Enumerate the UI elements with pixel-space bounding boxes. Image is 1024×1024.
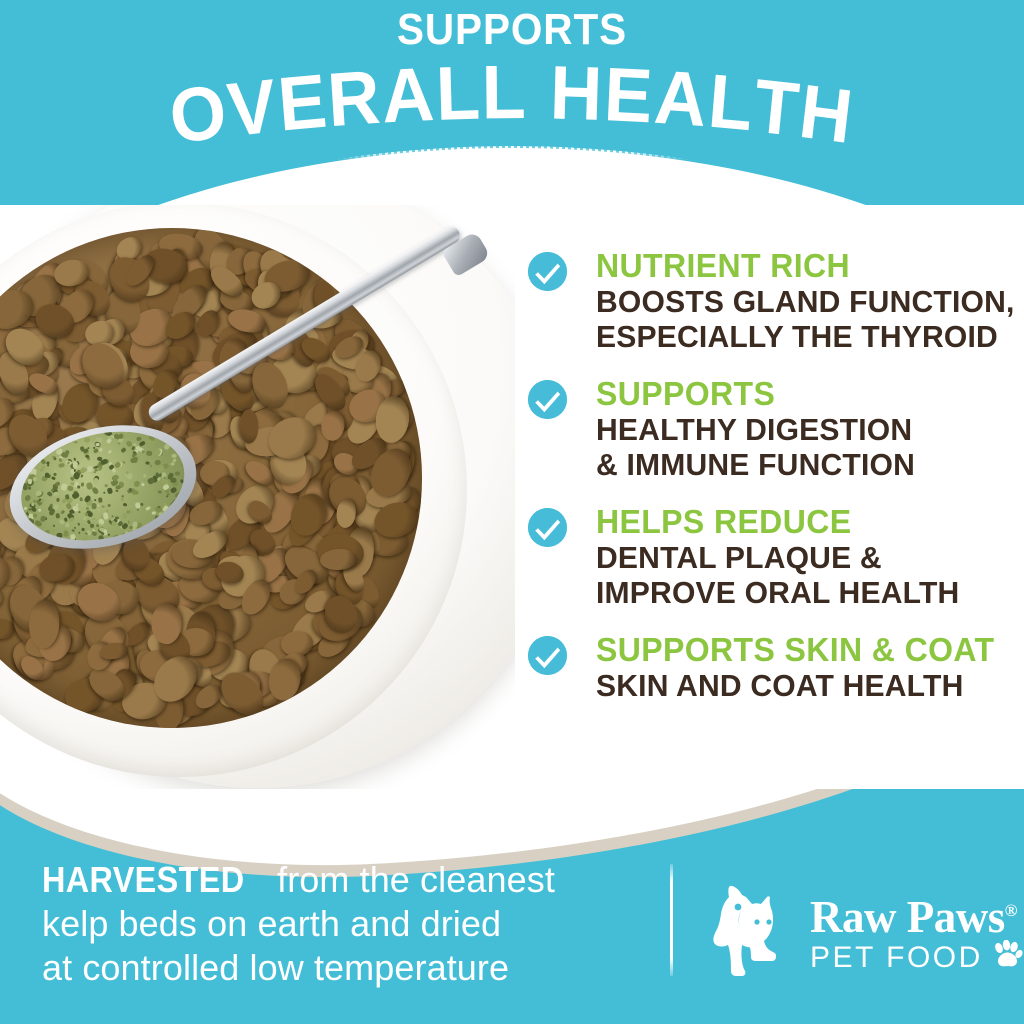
kelp-fleck	[190, 513, 195, 517]
kelp-fleck	[81, 474, 84, 477]
benefit-title: SUPPORTS	[596, 376, 1011, 412]
kelp-fleck	[183, 507, 187, 511]
footer-tagline: HARVESTED from the cleanest kelp beds on…	[42, 858, 555, 990]
kelp-fleck	[76, 503, 79, 506]
kelp-fleck	[170, 462, 175, 466]
headline-letter: V	[224, 65, 282, 152]
headline-letter: E	[275, 60, 331, 146]
kelp-fleck	[90, 486, 98, 495]
kelp-fleck	[96, 443, 100, 446]
kelp-fleck	[73, 469, 75, 472]
kelp-fleck	[177, 499, 180, 503]
kelp-fleck	[17, 479, 22, 484]
kelp-fleck	[90, 523, 95, 527]
kelp-fleck	[122, 502, 127, 506]
kelp-fleck	[144, 480, 147, 482]
kibble-piece	[239, 409, 258, 443]
kelp-fleck	[93, 458, 96, 460]
kelp-fleck	[67, 542, 71, 546]
kelp-fleck	[91, 540, 99, 547]
kelp-fleck	[100, 458, 108, 466]
kelp-fleck	[174, 471, 179, 475]
kelp-fleck	[186, 488, 191, 493]
kelp-fleck	[150, 520, 158, 529]
kelp-fleck	[157, 491, 161, 494]
logo-wordmark: Raw Paws® PET FOOD	[810, 888, 1023, 975]
kelp-fleck	[97, 505, 100, 508]
check-circle-icon	[528, 508, 567, 547]
kelp-fleck	[91, 531, 97, 536]
kelp-fleck	[144, 474, 147, 478]
kelp-fleck	[80, 497, 83, 501]
benefit-title: NUTRIENT RICH	[596, 248, 1011, 284]
footer-line-2: kelp beds on earth and dried	[42, 902, 555, 946]
kelp-fleck	[92, 477, 98, 484]
headline-letter: A	[652, 57, 711, 143]
kelp-fleck	[56, 497, 60, 501]
kelp-fleck	[44, 529, 51, 535]
benefit-item: NUTRIENT RICHBOOSTS GLAND FUNCTION,ESPEC…	[528, 248, 1024, 354]
kelp-fleck	[64, 530, 69, 536]
kelp-fleck	[98, 448, 103, 452]
kelp-fleck	[120, 498, 123, 502]
benefit-description-line: HEALTHY DIGESTION	[596, 412, 1011, 447]
kelp-fleck	[175, 442, 183, 450]
check-circle-icon	[528, 380, 567, 419]
kelp-fleck	[71, 529, 74, 532]
kelp-fleck	[122, 495, 124, 497]
kelp-fleck	[78, 485, 81, 488]
logo-brand-name: Raw Paws®	[810, 888, 1023, 940]
kelp-fleck	[124, 530, 129, 535]
kelp-fleck	[163, 436, 166, 440]
kelp-fleck	[141, 427, 149, 435]
kelp-fleck	[125, 471, 129, 474]
kibble-piece	[151, 603, 181, 644]
registered-trademark-icon: ®	[1005, 901, 1017, 920]
kelp-fleck	[149, 490, 155, 497]
kelp-fleck	[65, 522, 70, 527]
kelp-fleck	[180, 463, 184, 467]
kelp-fleck	[79, 511, 81, 513]
kelp-fleck	[23, 506, 27, 510]
kelp-fleck	[110, 450, 113, 453]
kelp-fleck	[129, 509, 133, 513]
kelp-fleck	[120, 447, 127, 454]
kelp-fleck	[73, 461, 79, 468]
check-circle-icon	[528, 252, 567, 291]
kelp-fleck	[47, 537, 49, 539]
brand-logo[interactable]: Raw Paws® PET FOOD	[712, 881, 1023, 982]
kelp-fleck	[79, 541, 82, 544]
kelp-fleck	[102, 512, 109, 520]
kelp-fleck	[74, 441, 77, 444]
footer-line-1-rest: from the cleanest	[267, 859, 555, 900]
kelp-fleck	[164, 517, 166, 520]
headline-letter	[528, 52, 551, 134]
kelp-fleck	[37, 452, 43, 457]
kelp-fleck	[27, 479, 31, 484]
headline-line-1: SUPPORTS	[41, 6, 983, 54]
kelp-fleck	[149, 464, 153, 468]
kelp-fleck	[133, 481, 135, 483]
kelp-fleck	[167, 435, 171, 440]
kelp-fleck	[122, 512, 128, 519]
check-circle-icon	[528, 636, 567, 675]
footer-strong-word: HARVESTED	[42, 858, 244, 902]
kelp-fleck	[122, 461, 125, 464]
kelp-fleck	[141, 483, 145, 487]
kelp-fleck	[107, 487, 113, 494]
benefit-item: SUPPORTS SKIN & COATSKIN AND COAT HEALTH	[528, 632, 1024, 703]
kelp-fleck	[134, 490, 139, 495]
benefit-description-line: ESPECIALLY THE THYROID	[596, 319, 1011, 354]
kelp-fleck	[53, 524, 55, 527]
kelp-fleck	[40, 468, 45, 473]
kelp-fleck	[133, 456, 138, 462]
footer-line-1: HARVESTED from the cleanest	[42, 858, 555, 902]
kelp-fleck	[102, 505, 105, 507]
kelp-fleck	[74, 526, 77, 528]
kelp-fleck	[118, 533, 126, 540]
kelp-fleck	[53, 472, 57, 476]
kelp-fleck	[47, 464, 49, 467]
kelp-fleck	[77, 523, 80, 526]
footer-line-3: at controlled low temperature	[42, 946, 555, 990]
benefit-description-line: BOOSTS GLAND FUNCTION,	[596, 284, 1011, 319]
kelp-fleck	[81, 528, 85, 531]
kelp-fleck	[105, 484, 109, 487]
kelp-fleck	[164, 442, 171, 449]
paw-print-icon	[991, 940, 1023, 975]
kelp-fleck	[20, 456, 27, 462]
headline-letter: L	[705, 61, 757, 147]
dog-and-cat-silhouette-icon	[712, 881, 798, 982]
kelp-fleck	[172, 434, 177, 440]
kelp-fleck	[17, 461, 21, 466]
benefit-title: HELPS REDUCE	[596, 504, 1011, 540]
kelp-fleck	[156, 422, 159, 424]
kelp-fleck	[107, 504, 110, 507]
kelp-fleck	[172, 504, 176, 508]
kelp-fleck	[108, 473, 111, 477]
kelp-fleck	[127, 520, 129, 523]
kelp-fleck	[73, 511, 75, 514]
kelp-fleck	[71, 534, 76, 540]
benefit-description-line: DENTAL PLAQUE &	[596, 540, 1011, 575]
kelp-fleck	[51, 529, 55, 533]
kelp-fleck	[37, 509, 41, 513]
product-photo	[0, 150, 515, 850]
headline-letter: H	[549, 52, 605, 136]
kelp-fleck	[84, 532, 87, 535]
kelp-fleck	[98, 498, 102, 503]
headline-letter: R	[325, 57, 384, 143]
kelp-fleck	[104, 473, 107, 477]
kelp-fleck	[52, 539, 56, 543]
kelp-fleck	[141, 450, 145, 453]
logo-subtitle: PET FOOD	[810, 942, 983, 974]
kelp-fleck	[181, 501, 184, 504]
kelp-fleck	[92, 503, 97, 509]
kelp-fleck	[98, 534, 105, 542]
kelp-fleck	[157, 519, 160, 522]
kelp-fleck	[53, 491, 59, 497]
kelp-fleck	[93, 518, 96, 521]
headline-letter: O	[165, 71, 232, 160]
kelp-fleck	[115, 490, 118, 493]
kelp-fleck	[78, 532, 80, 535]
headline: SUPPORTS OVERALL HEALTH	[0, 6, 1024, 134]
kelp-fleck	[33, 513, 38, 519]
footer-divider	[670, 864, 673, 976]
benefits-list: NUTRIENT RICHBOOSTS GLAND FUNCTION,ESPEC…	[528, 248, 1024, 725]
header-arc-texture	[0, 146, 1024, 205]
kelp-fleck	[145, 450, 152, 456]
headline-letter: L	[482, 52, 529, 134]
kelp-fleck	[72, 544, 74, 546]
kelp-fleck	[146, 439, 152, 445]
headline-line-2: OVERALL HEALTH	[26, 52, 999, 134]
headline-letter: H	[796, 71, 859, 159]
kelp-fleck	[139, 440, 146, 447]
kelp-fleck	[103, 491, 106, 494]
benefit-title: SUPPORTS SKIN & COAT	[596, 632, 1011, 668]
kelp-fleck	[98, 508, 101, 511]
kelp-fleck	[58, 458, 63, 463]
kelp-fleck	[55, 513, 59, 518]
headline-letter: L	[435, 53, 483, 136]
kelp-fleck	[81, 483, 84, 487]
benefit-item: HELPS REDUCEDENTAL PLAQUE &IMPROVE ORAL …	[528, 504, 1024, 610]
kelp-fleck	[108, 534, 110, 536]
kelp-fleck	[155, 432, 161, 438]
kelp-fleck	[166, 496, 169, 499]
infographic-poster: SUPPORTS OVERALL HEALTH NUTRIENT RICHBOO…	[0, 0, 1024, 1024]
kelp-fleck	[179, 479, 184, 484]
kelp-fleck	[30, 526, 37, 531]
headline-letter: A	[380, 54, 438, 139]
kelp-fleck	[140, 503, 144, 507]
benefit-item: SUPPORTSHEALTHY DIGESTION& IMMUNE FUNCTI…	[528, 376, 1024, 482]
kelp-fleck	[114, 461, 121, 468]
kelp-fleck	[83, 437, 90, 443]
kelp-fleck	[16, 475, 19, 478]
benefit-description-line: IMPROVE ORAL HEALTH	[596, 575, 1011, 610]
benefit-description-line: & IMMUNE FUNCTION	[596, 447, 1011, 482]
benefit-description-line: SKIN AND COAT HEALTH	[596, 668, 1011, 703]
kibble-piece	[0, 584, 7, 616]
kelp-fleck	[60, 509, 65, 514]
headline-letter: E	[602, 54, 656, 138]
kelp-fleck	[94, 499, 97, 502]
kelp-fleck	[111, 515, 114, 518]
kelp-fleck	[33, 549, 37, 552]
kelp-fleck	[51, 476, 56, 481]
kelp-fleck	[58, 463, 64, 468]
kelp-fleck	[121, 523, 128, 530]
kelp-fleck	[154, 459, 161, 465]
